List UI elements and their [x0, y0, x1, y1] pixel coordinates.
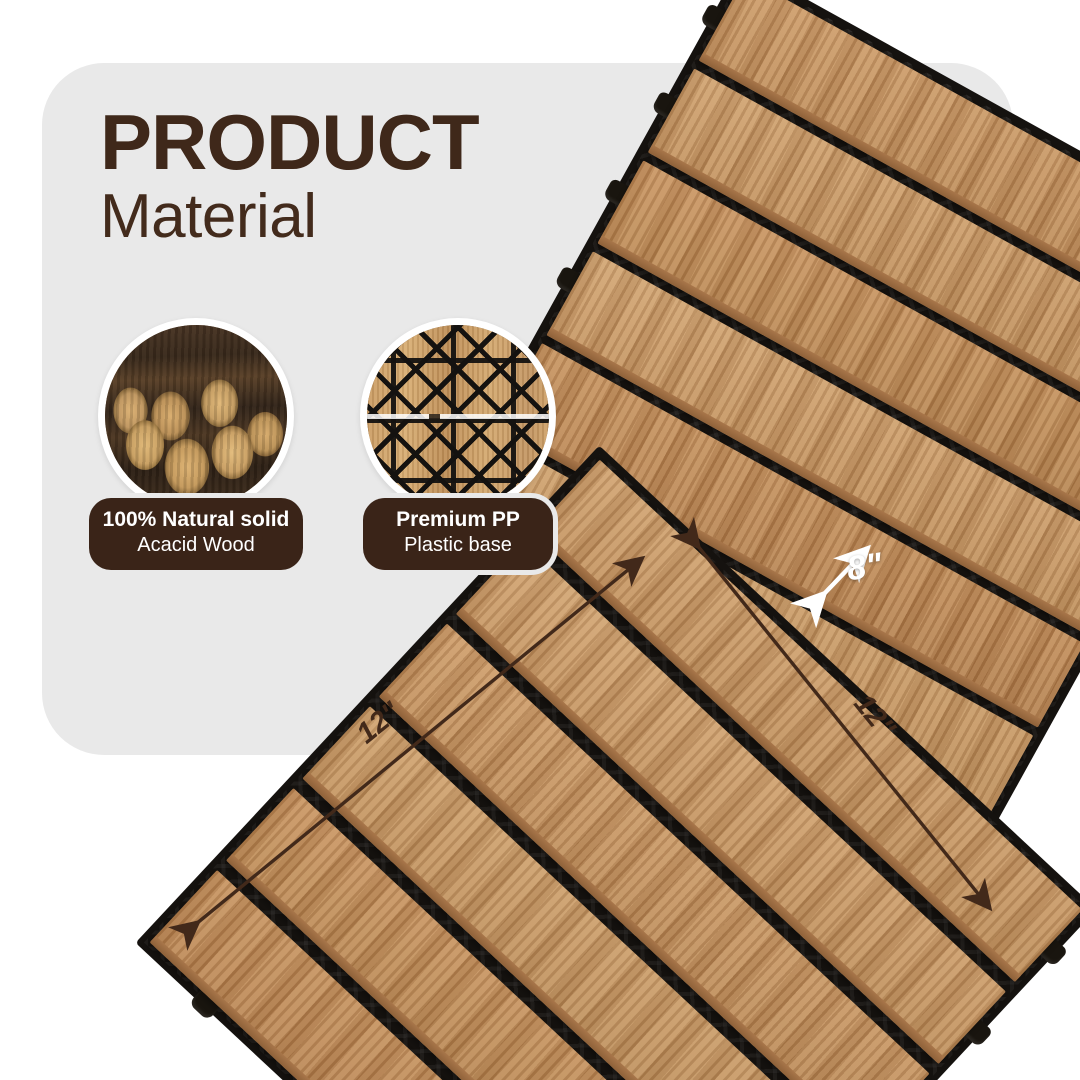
feature-label-line2: Plastic base: [377, 533, 539, 557]
feature-badge-wood: 100% Natural solid Acacid Wood: [89, 498, 304, 570]
feature-list: 100% Natural solid Acacid Wood Premium P…: [94, 318, 560, 570]
infographic-canvas: PRODUCT Material 100% Natural solid Acac…: [0, 0, 1080, 1080]
feature-label-line1: 100% Natural solid: [103, 508, 290, 533]
plastic-lattice-base-icon: [360, 318, 556, 514]
title-sub: Material: [100, 184, 479, 249]
page-title: PRODUCT Material: [100, 104, 479, 250]
dimension-label-thickness: 8": [844, 546, 884, 589]
feature-badge-plastic: Premium PP Plastic base: [363, 498, 553, 570]
feature-item-wood: 100% Natural solid Acacid Wood: [94, 318, 298, 570]
feature-label-line1: Premium PP: [377, 508, 539, 533]
title-main: PRODUCT: [100, 104, 479, 180]
feature-item-plastic: Premium PP Plastic base: [356, 318, 560, 570]
feature-label-line2: Acacid Wood: [103, 533, 290, 557]
stacked-logs-icon: [98, 318, 294, 514]
